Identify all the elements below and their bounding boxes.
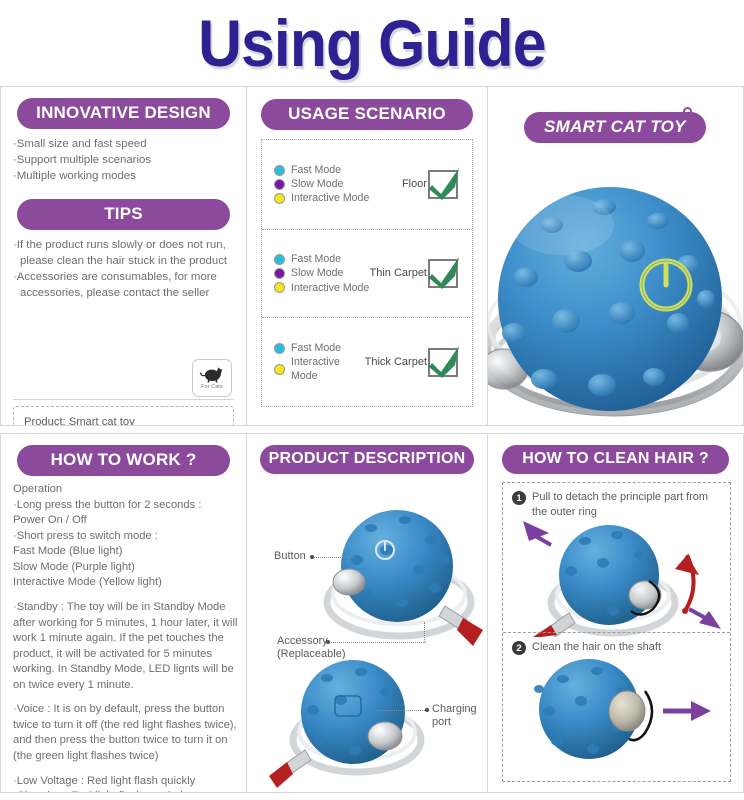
mode-item: Slow Mode <box>274 266 370 280</box>
page-header: Using Guide <box>0 0 744 86</box>
mode-dot-slow-icon <box>274 179 285 190</box>
checkbox <box>428 259 458 288</box>
product-description-figures: Button Accessory (Replaceable) <box>247 482 487 792</box>
work-block: ·Standby : The toy will be in Standby Mo… <box>13 600 234 693</box>
surface-label: Floor <box>402 178 427 190</box>
mode-label: Interactive Mode <box>291 191 369 205</box>
bullet-item: accessories, please contact the seller <box>13 285 232 301</box>
hero-product-image <box>488 173 744 423</box>
leader-line <box>329 642 426 643</box>
mode-item: Interactive Mode <box>274 191 390 205</box>
mode-list: Fast Mode Slow Mode Interactive Mode <box>262 252 370 294</box>
for-cats-caption: For Cats <box>201 384 223 390</box>
bullet-item: please clean the hair stuck in the produ… <box>13 253 232 269</box>
grid-row-top: INNOVATIVE DESIGN ·Small size and fast s… <box>0 86 744 426</box>
step-header: 2 Clean the hair on the shaft <box>503 633 730 655</box>
how-to-work-heading: HOW TO WORK ? <box>17 445 230 476</box>
clean-step-1-figure <box>503 519 736 637</box>
work-line: Operation <box>13 483 62 495</box>
accessory-feather-icon <box>457 618 483 646</box>
work-line: and then press the button twice to turn … <box>13 734 228 746</box>
mode-label: Interactive Mode <box>291 355 365 383</box>
mode-item: Fast Mode <box>274 341 365 355</box>
mode-item: Slow Mode <box>274 177 390 191</box>
guide-grid: INNOVATIVE DESIGN ·Small size and fast s… <box>0 86 744 793</box>
surface-label: Thick Carpet <box>365 356 427 368</box>
check-icon <box>426 163 464 203</box>
work-line: ·Short press to switch mode : <box>13 530 158 542</box>
work-line: ·Standby : The toy will be in Standby Mo… <box>13 601 225 613</box>
work-line: ·Voice : It is on by default, press the … <box>13 703 224 715</box>
work-line: product, it will be activated for 5 minu… <box>13 648 212 660</box>
checkbox <box>428 348 458 377</box>
work-line: after working for 5 minutes, 1 hour late… <box>13 617 237 629</box>
check-icon <box>426 252 464 292</box>
innovative-design-bullets: ·Small size and fast speed ·Support mult… <box>1 129 246 185</box>
step-header: 1 Pull to detach the principle part from… <box>503 483 730 519</box>
usage-scenario-heading: USAGE SCENARIO <box>261 99 473 130</box>
smart-cat-toy-badge: SMART CAT TOY <box>524 112 706 143</box>
panel-usage-scenario: USAGE SCENARIO Fast Mode Slow Mode <box>247 86 488 426</box>
scenario-row: Fast Mode Slow Mode Interactive Mode Thi… <box>262 229 472 318</box>
work-block: ·Low Voltage : Red light flash quickly ·… <box>13 774 234 793</box>
mode-label: Slow Mode <box>291 266 343 280</box>
mode-list: Fast Mode Interactive Mode <box>262 341 365 383</box>
clean-steps: 1 Pull to detach the principle part from… <box>502 482 731 782</box>
panel-how-to-work: HOW TO WORK ? Operation ·Long press the … <box>0 433 247 793</box>
step-text: Pull to detach the principle part from t… <box>532 490 720 519</box>
mode-dot-interactive-icon <box>274 364 285 375</box>
leader-dot-icon <box>310 555 314 559</box>
for-cats-badge: For Cats <box>192 359 232 397</box>
mode-item: Fast Mode <box>274 252 370 266</box>
mode-dot-fast-icon <box>274 254 285 265</box>
mode-label: Fast Mode <box>291 163 341 177</box>
innovative-design-heading: INNOVATIVE DESIGN <box>17 98 230 129</box>
scenario-row: Fast Mode Interactive Mode Thick Carpet <box>262 317 472 406</box>
work-block: ·Voice : It is on by default, press the … <box>13 702 234 764</box>
how-to-work-body: Operation ·Long press the button for 2 s… <box>1 476 246 793</box>
panel-innovative-design: INNOVATIVE DESIGN ·Small size and fast s… <box>0 86 247 426</box>
checkbox <box>428 170 458 199</box>
page-title: Using Guide <box>198 5 545 81</box>
leader-dot-icon <box>425 708 429 712</box>
tips-heading: TIPS <box>17 199 230 230</box>
product-description-heading: PRODUCT DESCRIPTION <box>260 445 474 474</box>
work-block: Operation ·Long press the button for 2 s… <box>13 482 234 591</box>
surface-label: Thin Carpet <box>370 267 427 279</box>
surface-result: Floor <box>402 170 472 199</box>
product-figure-top <box>321 498 483 658</box>
arrow-down-right-icon <box>689 609 721 629</box>
usage-scenario-table: Fast Mode Slow Mode Interactive Mode Flo… <box>261 139 473 407</box>
arrow-curved-up-icon <box>675 555 699 614</box>
check-icon <box>426 341 464 381</box>
work-line: working. In Standby Mode, LED lignts wil… <box>13 663 234 675</box>
bullet-item: ·Support multiple scenarios <box>13 152 232 168</box>
tips-bullets: ·If the product runs slowly or does not … <box>1 230 246 302</box>
panel-product-description: PRODUCT DESCRIPTION <box>247 433 488 793</box>
mode-dot-interactive-icon <box>274 193 285 204</box>
arrow-up-left-icon <box>523 521 551 545</box>
arrow-right-icon <box>663 701 711 721</box>
surface-result: Thick Carpet <box>365 348 472 377</box>
leader-dot-icon <box>326 640 330 644</box>
how-to-clean-heading: HOW TO CLEAN HAIR ? <box>502 445 729 474</box>
work-line: Power On / Off <box>13 514 87 526</box>
mode-dot-interactive-icon <box>274 282 285 293</box>
clean-step-2-figure <box>513 657 723 762</box>
work-line: on twice every 1 minute. <box>13 679 134 691</box>
surface-result: Thin Carpet <box>370 259 472 288</box>
work-line: Interactive Mode (Yellow light) <box>13 576 162 588</box>
bullet-item: ·Multiple working modes <box>13 168 232 184</box>
work-line: Slow Mode (Purple light) <box>13 561 135 573</box>
work-line: Fast Mode (Blue light) <box>13 545 122 557</box>
work-line: twice to turn it off (the red light flas… <box>13 719 237 731</box>
mode-dot-slow-icon <box>274 268 285 279</box>
work-line: ·Long press the button for 2 seconds : <box>13 499 201 511</box>
mode-list: Fast Mode Slow Mode Interactive Mode <box>262 163 390 205</box>
mode-label: Fast Mode <box>291 252 341 266</box>
divider <box>13 399 234 400</box>
mode-item: Interactive Mode <box>274 281 370 295</box>
product-figure-bottom <box>269 654 429 789</box>
callout-accessory-label: Accessory <box>277 635 328 647</box>
panel-how-to-clean-hair: HOW TO CLEAN HAIR ? 1 Pull to detach the… <box>488 433 744 793</box>
step-number-badge: 2 <box>512 641 526 655</box>
mode-dot-fast-icon <box>274 165 285 176</box>
mode-item: Interactive Mode <box>274 355 365 383</box>
mode-label: Interactive Mode <box>291 281 369 295</box>
leader-line <box>377 710 427 711</box>
scenario-row: Fast Mode Slow Mode Interactive Mode Flo… <box>262 140 472 229</box>
callout-charging-sublabel: port <box>432 716 451 728</box>
leader-line <box>424 622 425 642</box>
mode-dot-fast-icon <box>274 343 285 354</box>
step-text: Clean the hair on the shaft <box>532 640 661 655</box>
callout-button-label: Button <box>274 550 306 562</box>
mode-label: Fast Mode <box>291 341 341 355</box>
degree-mark-icon <box>683 107 692 116</box>
spec-box: Product: Smart cat toy Model: L02 Materi… <box>13 406 234 426</box>
bullet-item: ·If the product runs slowly or does not … <box>13 237 232 253</box>
work-line: ·Low Voltage : Red light flash quickly <box>13 775 195 787</box>
mode-item: Fast Mode <box>274 163 390 177</box>
bullet-item: ·Small size and fast speed <box>13 136 232 152</box>
step-number-badge: 1 <box>512 491 526 505</box>
clean-step: 1 Pull to detach the principle part from… <box>503 483 730 632</box>
cat-icon <box>199 367 225 383</box>
work-line: ·Charging : Red light flash regularly <box>13 790 188 793</box>
clean-step: 2 Clean the hair on the shaft <box>503 632 730 781</box>
work-line: work 1 minute again. If the pet touches … <box>13 632 224 644</box>
leader-line <box>313 557 353 558</box>
mode-label: Slow Mode <box>291 177 343 191</box>
bullet-item: ·Accessories are consumables, for more <box>13 269 232 285</box>
spec-row: Product: Smart cat toy <box>24 414 223 426</box>
work-line: (the green light flashes twice) <box>13 750 159 762</box>
callout-charging-label: Charging <box>432 703 477 715</box>
grid-row-bottom: HOW TO WORK ? Operation ·Long press the … <box>0 433 744 793</box>
panel-hero: SMART CAT TOY <box>488 86 744 426</box>
